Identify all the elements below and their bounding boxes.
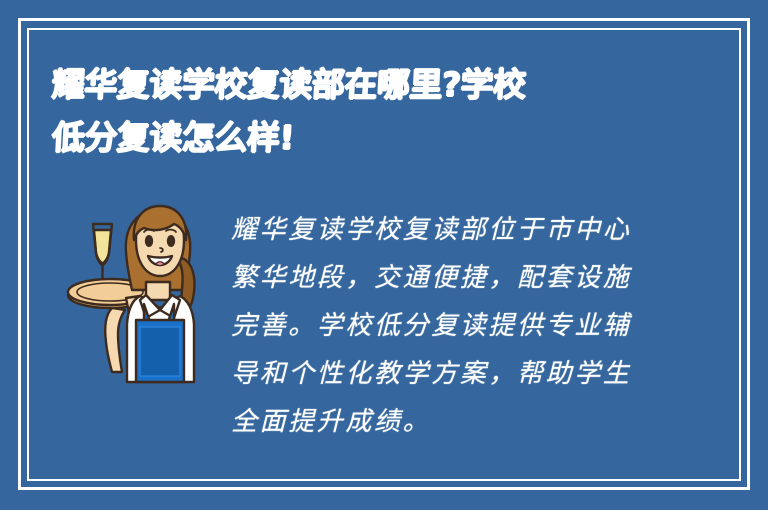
body-line-4: 导和个性化教学方案，帮助学生 bbox=[231, 350, 661, 398]
page-title: 耀华复读学校复读部在哪里?学校 低分复读怎么样! bbox=[52, 58, 652, 164]
body-line-5: 全面提升成绩。 bbox=[231, 398, 661, 446]
waitress-with-tray-icon bbox=[66, 196, 206, 396]
body-line-2: 繁华地段，交通便捷，配套设施 bbox=[231, 254, 661, 302]
title-line-2: 低分复读怎么样! bbox=[51, 111, 654, 164]
body-line-3: 完善。学校低分复读提供专业辅 bbox=[231, 302, 661, 350]
poster-canvas: 耀华复读学校复读部在哪里?学校 低分复读怎么样! bbox=[0, 0, 768, 510]
body-paragraph: 耀华复读学校复读部位于市中心 繁华地段，交通便捷，配套设施 完善。学校低分复读提… bbox=[231, 206, 661, 446]
body-line-1: 耀华复读学校复读部位于市中心 bbox=[231, 206, 661, 254]
title-line-1: 耀华复读学校复读部在哪里?学校 bbox=[51, 58, 654, 111]
